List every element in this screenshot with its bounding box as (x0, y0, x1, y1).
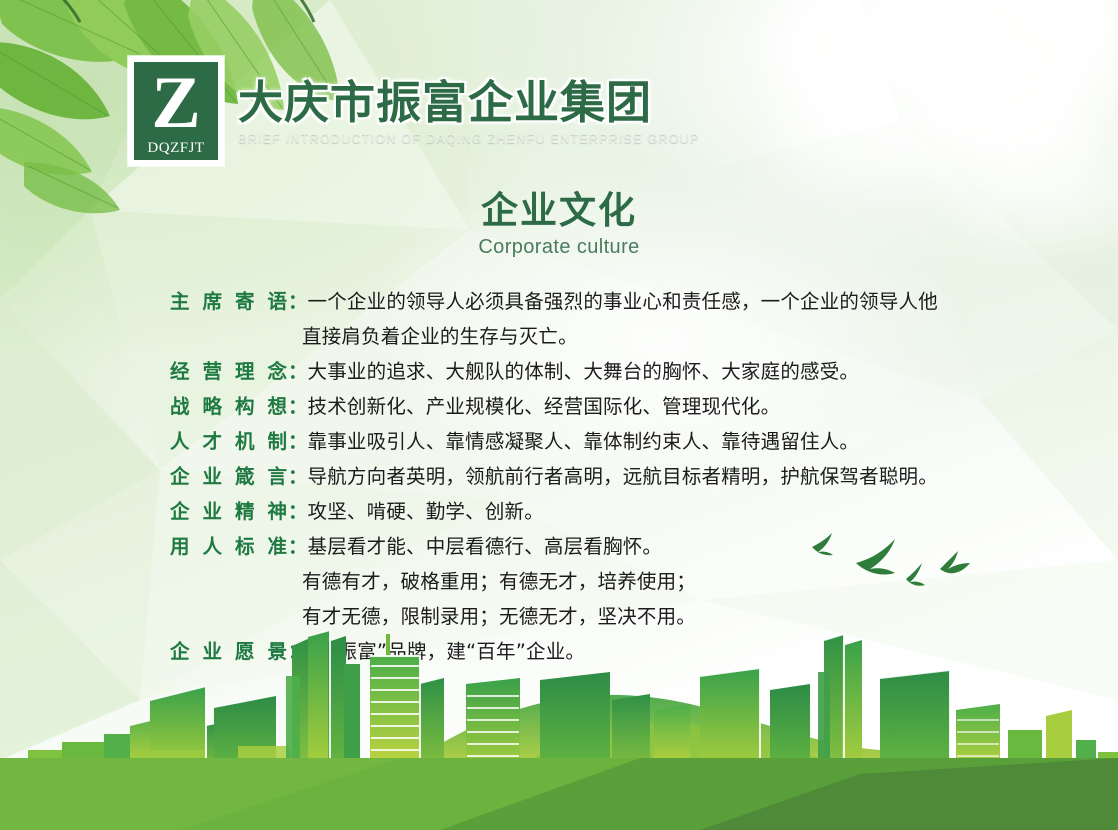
culture-entry-text: 一个企业的领导人必须具备强烈的事业心和责任感，一个企业的领导人他 (308, 284, 1040, 319)
label-char: 才 (202, 424, 222, 459)
culture-entry-colon: ： (288, 424, 308, 459)
culture-entry-text: 技术创新化、产业规模化、经营国际化、管理现代化。 (308, 389, 1040, 424)
label-char: 寄 (235, 284, 255, 319)
label-char: 经 (170, 354, 190, 389)
label-char: 理 (235, 354, 255, 389)
label-char: 营 (202, 354, 222, 389)
culture-entry-colon: ： (288, 284, 308, 319)
label-char: 念 (267, 354, 287, 389)
culture-entry-colon: ： (288, 389, 308, 424)
label-char: 席 (202, 284, 222, 319)
ground-plane (0, 752, 1118, 830)
label-char: 略 (202, 389, 222, 424)
label-char: 神 (267, 494, 287, 529)
culture-entry-label: 经营理念 (170, 354, 288, 389)
culture-entry-label: 企业箴言 (170, 459, 288, 494)
culture-entry-row: 人才机制：靠事业吸引人、靠情感凝聚人、靠体制约束人、靠待遇留住人。 (170, 424, 1040, 459)
label-char: 企 (170, 459, 190, 494)
culture-entry-colon: ： (288, 354, 308, 389)
label-char: 业 (202, 494, 222, 529)
culture-entry-row: 战略构想：技术创新化、产业规模化、经营国际化、管理现代化。 (170, 389, 1040, 424)
logo-letter-z: Z (151, 66, 200, 140)
culture-entry-line: 一个企业的领导人必须具备强烈的事业心和责任感，一个企业的领导人他 (308, 284, 1040, 319)
section-title-block: 企业文化 Corporate culture (0, 190, 1118, 259)
label-char: 战 (170, 389, 190, 424)
label-char: 想 (267, 389, 287, 424)
label-char: 语 (267, 284, 287, 319)
label-char: 精 (235, 494, 255, 529)
culture-entry-label: 用人标准 (170, 529, 288, 564)
culture-entry-text: 靠事业吸引人、靠情感凝聚人、靠体制约束人、靠待遇留住人。 (308, 424, 1040, 459)
culture-entry-line: 大事业的追求、大舰队的体制、大舞台的胸怀、大家庭的感受。 (308, 354, 1040, 389)
label-char: 业 (202, 459, 222, 494)
label-char: 用 (170, 529, 190, 564)
culture-entry-row: 主席寄语：一个企业的领导人必须具备强烈的事业心和责任感，一个企业的领导人他 (170, 284, 1040, 319)
culture-entry-text: 大事业的追求、大舰队的体制、大舞台的胸怀、大家庭的感受。 (308, 354, 1040, 389)
label-char: 准 (267, 529, 287, 564)
label-char: 构 (235, 389, 255, 424)
company-name-en: BRIEF INTRODUCTION OF DAQING ZHENFU ENTE… (238, 132, 700, 146)
company-name-cn: 大庆市振富企业集团 (238, 78, 700, 128)
label-char: 人 (170, 424, 190, 459)
culture-entry-label: 战略构想 (170, 389, 288, 424)
culture-entry-label: 人才机制 (170, 424, 288, 459)
label-char: 企 (170, 494, 190, 529)
culture-entry-colon: ： (288, 494, 308, 529)
label-char: 标 (235, 529, 255, 564)
brand-header: Z DQZFJT 大庆市振富企业集团 BRIEF INTRODUCTION OF… (128, 56, 688, 176)
culture-entry-row: 经营理念：大事业的追求、大舰队的体制、大舞台的胸怀、大家庭的感受。 (170, 354, 1040, 389)
culture-entry-line: 攻坚、啃硬、勤学、创新。 (308, 494, 1040, 529)
culture-entry-row: 企业精神：攻坚、啃硬、勤学、创新。 (170, 494, 1040, 529)
culture-entry-row: 企业箴言：导航方向者英明，领航前行者高明，远航目标者精明，护航保驾者聪明。 (170, 459, 1040, 494)
label-char: 言 (267, 459, 287, 494)
culture-entry-text: 导航方向者英明，领航前行者高明，远航目标者精明，护航保驾者聪明。 (308, 459, 1040, 494)
culture-entry-label: 主席寄语 (170, 284, 288, 319)
label-char: 箴 (235, 459, 255, 494)
culture-entry-line: 靠事业吸引人、靠情感凝聚人、靠体制约束人、靠待遇留住人。 (308, 424, 1040, 459)
culture-entry-colon: ： (288, 529, 308, 564)
poster-canvas: Z DQZFJT 大庆市振富企业集团 BRIEF INTRODUCTION OF… (0, 0, 1118, 830)
logo-abbreviation: DQZFJT (147, 140, 204, 156)
section-title-en: Corporate culture (0, 235, 1118, 259)
label-char: 人 (202, 529, 222, 564)
culture-entry-line: 技术创新化、产业规模化、经营国际化、管理现代化。 (308, 389, 1040, 424)
label-char: 机 (235, 424, 255, 459)
label-char: 主 (170, 284, 190, 319)
culture-entry-label: 企业精神 (170, 494, 288, 529)
culture-entry-line: 直接肩负着企业的生存与灭亡。 (302, 319, 1040, 354)
section-title-cn: 企业文化 (0, 190, 1118, 232)
culture-entry-text: 攻坚、啃硬、勤学、创新。 (308, 494, 1040, 529)
company-logo: Z DQZFJT (128, 56, 224, 166)
label-char: 制 (267, 424, 287, 459)
culture-entry-line: 导航方向者英明，领航前行者高明，远航目标者精明，护航保驾者聪明。 (308, 459, 1040, 494)
flying-birds-icon (800, 525, 980, 595)
culture-entry-colon: ： (288, 459, 308, 494)
